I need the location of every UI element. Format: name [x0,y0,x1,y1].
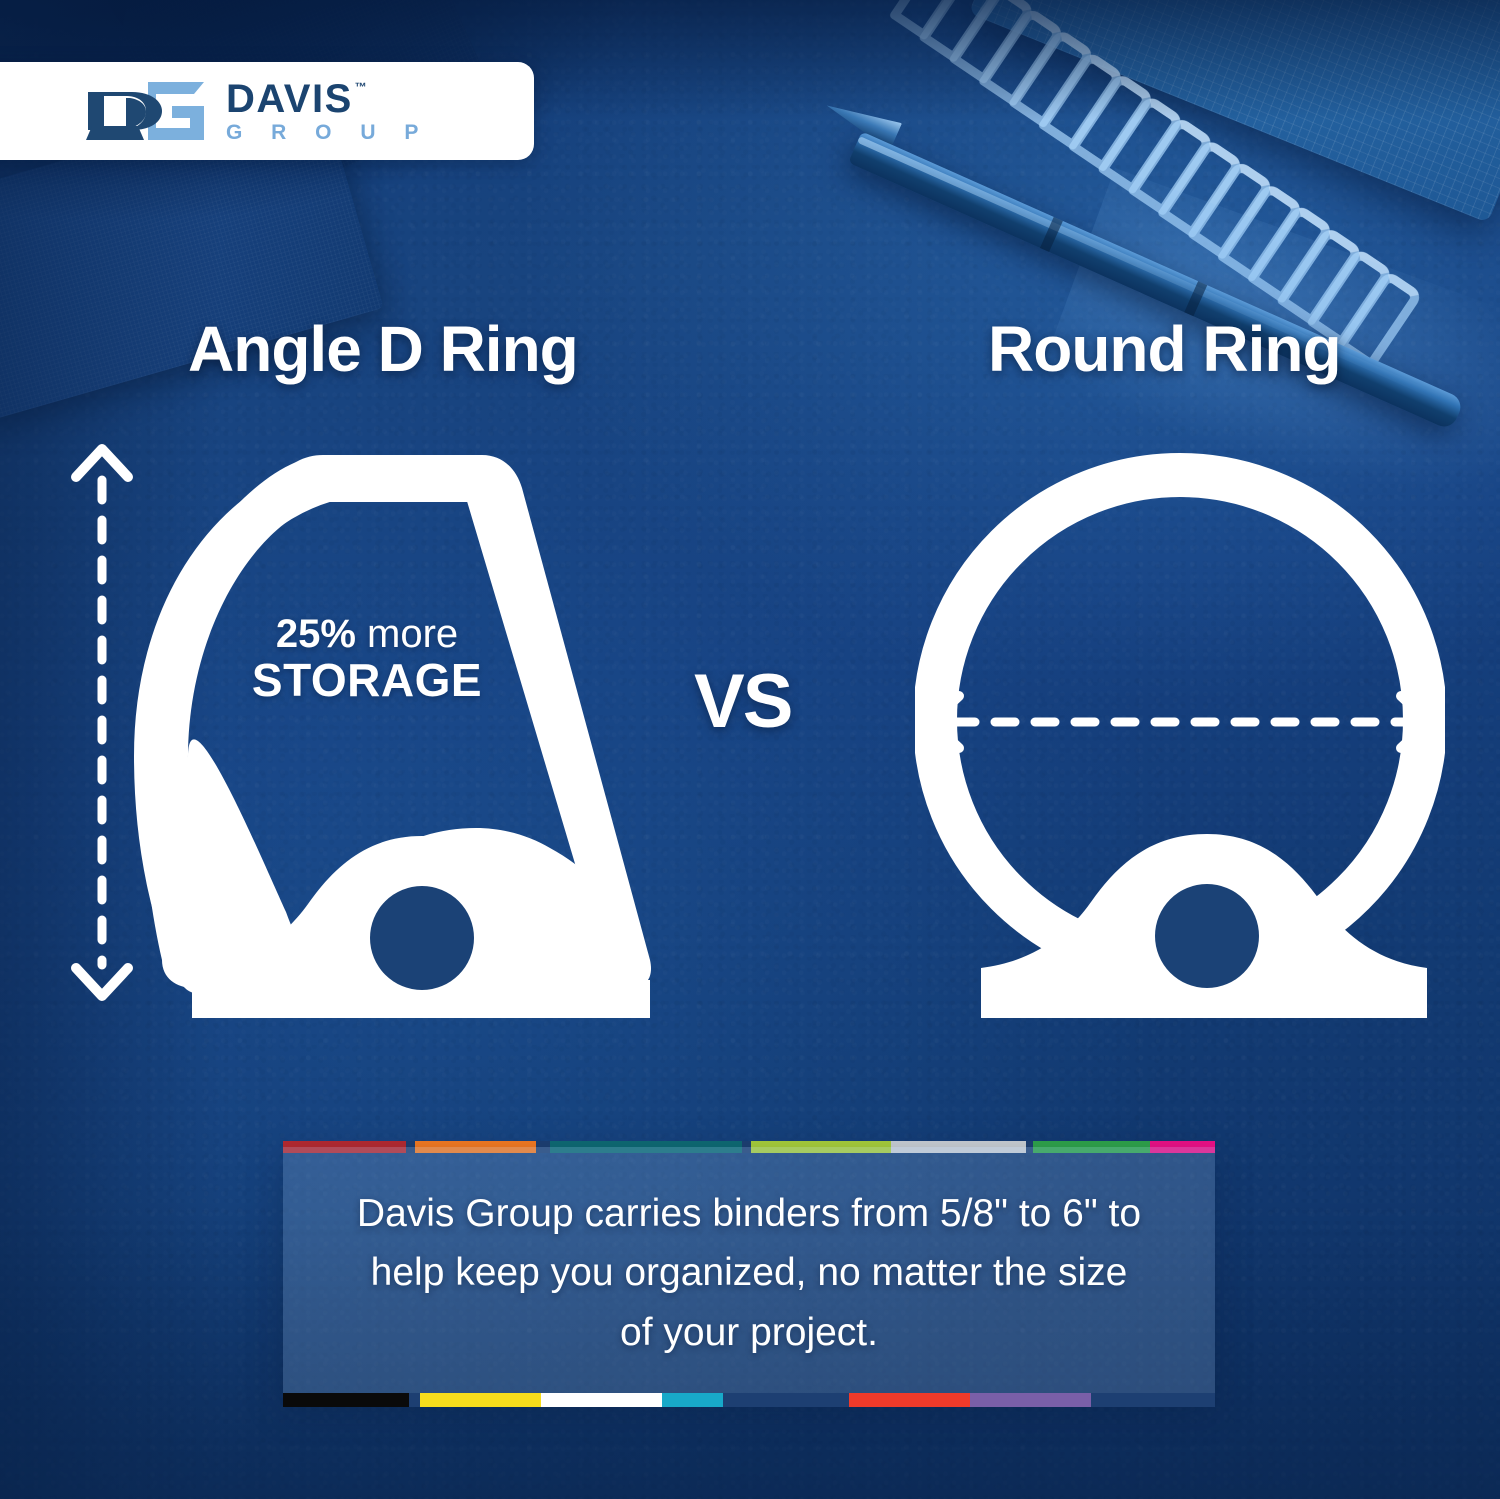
davis-group-dg-monogram-icon [86,80,206,142]
color-strip-segment [420,1393,541,1407]
color-strip-segment [662,1393,723,1407]
caption-panel: Davis Group carries binders from 5/8" to… [283,1147,1215,1399]
color-strip-segment [409,1393,420,1407]
versus-label: VS [694,658,791,745]
horizontal-double-dashed-arrow-icon [931,696,1429,748]
color-strip-segment [970,1393,1091,1407]
storage-badge: 25% more STORAGE [232,614,502,704]
storage-label: STORAGE [232,657,502,704]
right-column-heading: Round Ring [988,312,1341,386]
angle-d-ring-graphic [130,440,690,1020]
left-column-heading: Angle D Ring [188,312,578,386]
trademark-symbol: ™ [355,81,367,93]
color-strip-segment [283,1393,409,1407]
caption-line-2: help keep you organized, no matter the s… [371,1243,1128,1302]
brand-name-group: G R O U P [226,122,430,143]
color-strip-bottom [283,1393,1215,1407]
storage-percent: 25% [276,612,356,656]
caption-line-3: of your project. [620,1303,878,1362]
color-strip-segment [1091,1393,1215,1407]
brand-wordmark: DAVIS ™ G R O U P [226,79,430,143]
color-strip-segment [541,1393,662,1407]
infographic-canvas: DAVIS ™ G R O U P Angle D Ring Round Rin… [0,0,1500,1499]
round-ring-graphic [915,440,1445,1020]
brand-logo-bar[interactable]: DAVIS ™ G R O U P [0,62,534,160]
color-strip-segment [723,1393,849,1407]
brand-name-davis: DAVIS [226,79,353,119]
color-strip-segment [849,1393,970,1407]
caption-line-1: Davis Group carries binders from 5/8" to… [357,1184,1141,1243]
storage-more-label: more [356,612,458,656]
